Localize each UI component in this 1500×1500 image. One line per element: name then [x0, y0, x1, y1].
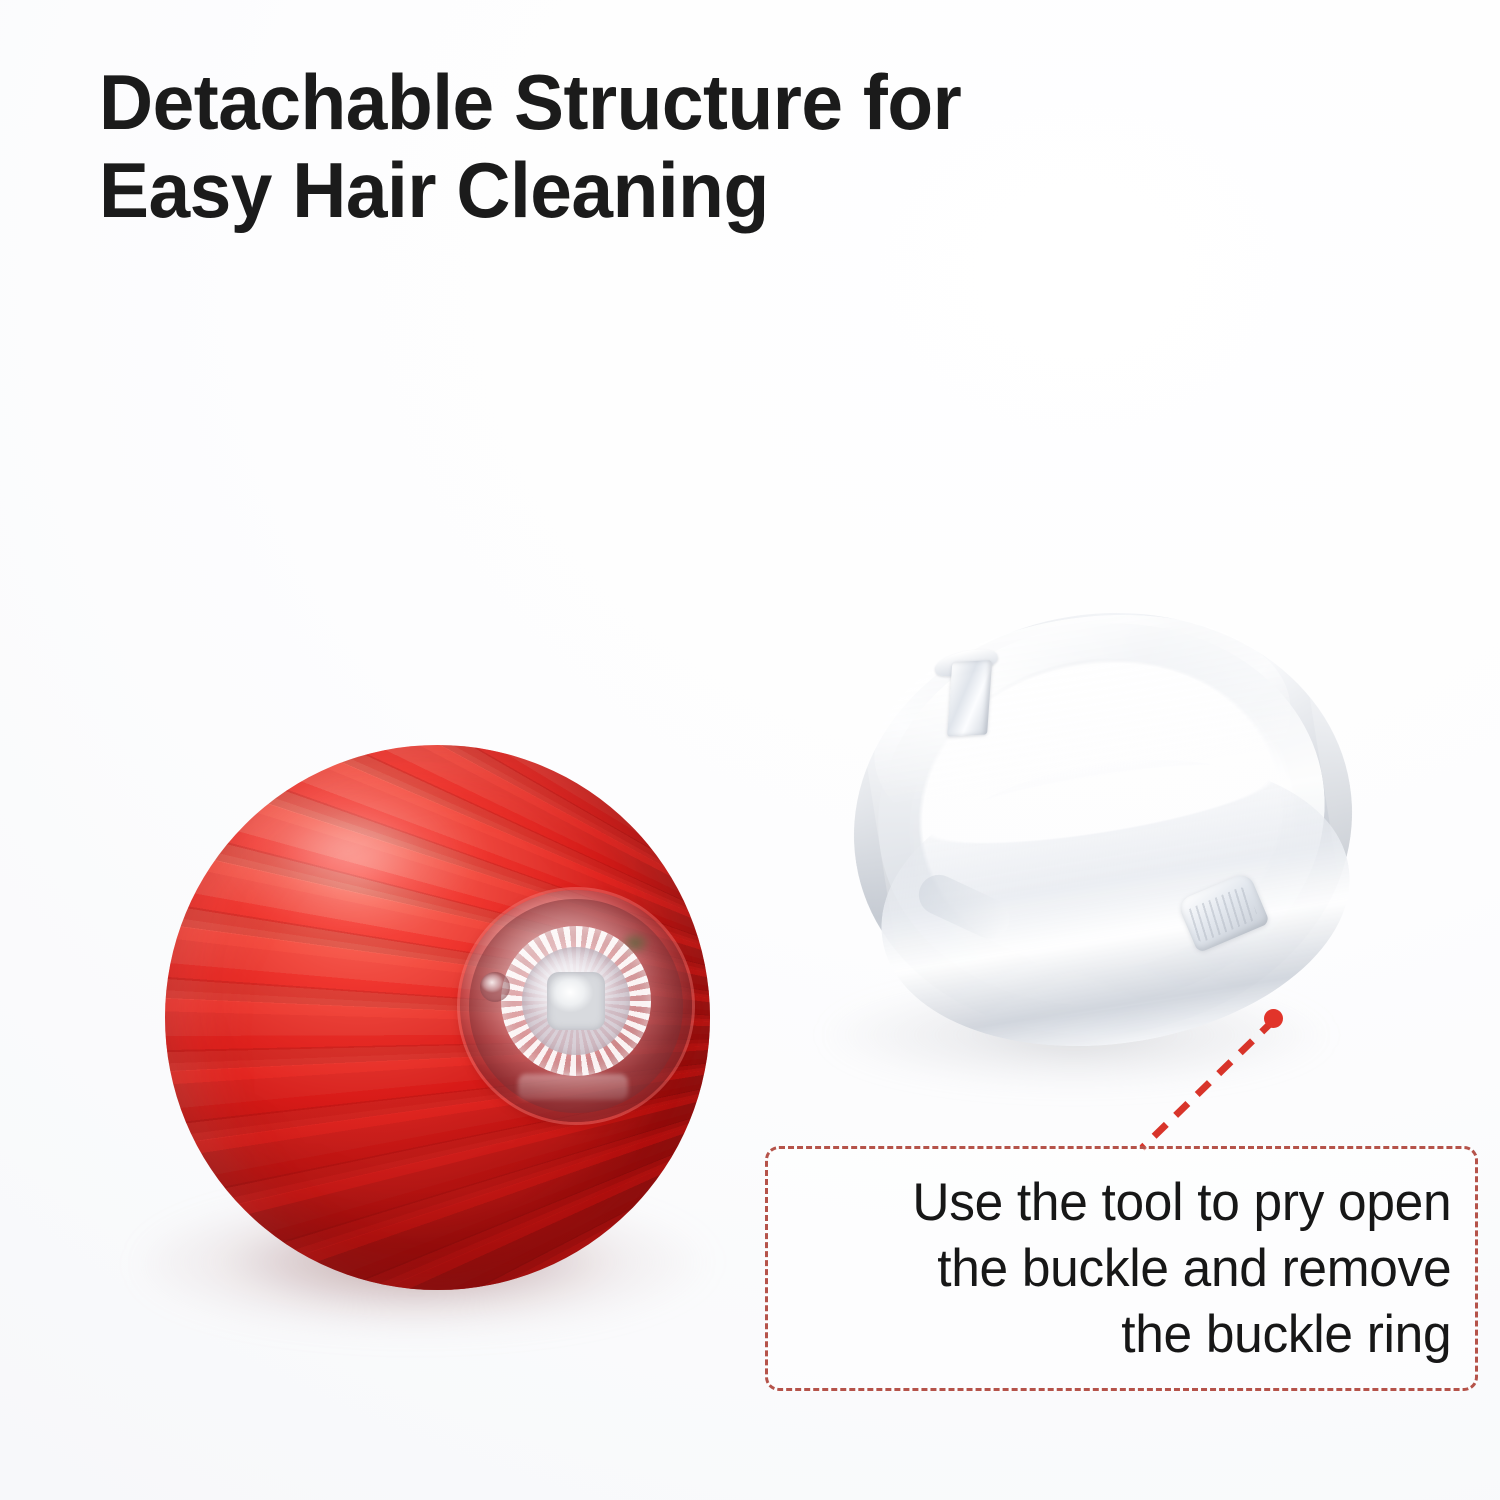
cap-lower-tab — [518, 1074, 628, 1100]
gear-core — [547, 972, 605, 1030]
page-title: Detachable Structure for Easy Hair Clean… — [99, 58, 1232, 234]
ring-body — [823, 577, 1383, 1070]
cap-screw-icon — [480, 972, 510, 1002]
product-feature-image: Detachable Structure for Easy Hair Clean… — [0, 0, 1500, 1500]
callout-text: Use the tool to pry open the buckle and … — [893, 1170, 1475, 1368]
transparent-gear-cap — [460, 890, 692, 1122]
ball-body — [165, 745, 710, 1290]
ring-clip-tab — [947, 660, 992, 736]
buckle-ring — [845, 600, 1365, 1080]
product-ball — [150, 735, 720, 1345]
callout-box: Use the tool to pry open the buckle and … — [765, 1146, 1478, 1391]
callout-marker-dot — [1264, 1009, 1283, 1028]
